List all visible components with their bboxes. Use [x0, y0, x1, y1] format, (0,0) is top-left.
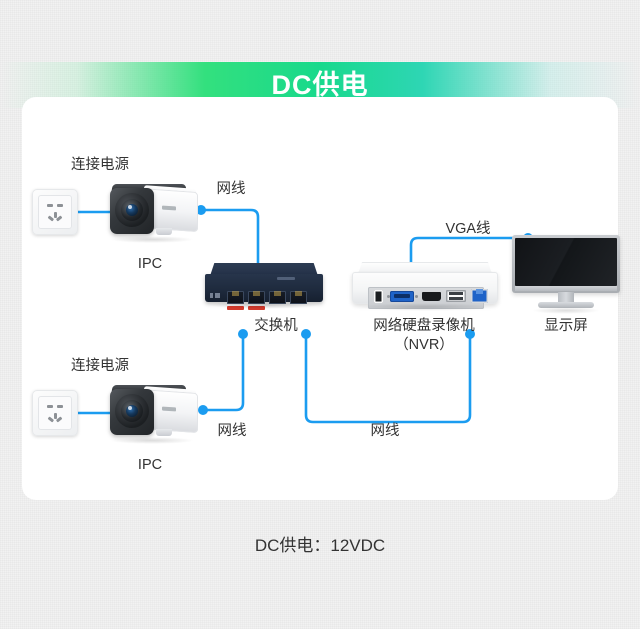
label-power-top: 连接电源 — [71, 156, 129, 175]
label-nvr-line2: （NVR） — [394, 336, 454, 355]
outlet-face — [38, 396, 72, 430]
nvr-power-port — [374, 290, 383, 303]
outlet-slot-angled-right — [56, 215, 62, 221]
label-nvr-line1: 网络硬盘录像机 — [373, 317, 475, 336]
label-lan-bottom-left: 网线 — [218, 422, 247, 441]
label-lan-top: 网线 — [217, 180, 246, 199]
outlet-face — [38, 195, 72, 229]
display-monitor — [512, 235, 620, 313]
label-lan-bottom-mid: 网线 — [371, 422, 400, 441]
camera-lens-highlight — [128, 205, 132, 209]
label-switch: 交换机 — [254, 317, 298, 336]
nvr-hdmi-port — [422, 292, 441, 301]
nvr-shadow — [358, 303, 492, 311]
ip-camera-top — [104, 182, 200, 240]
label-ipc-bottom: IPC — [138, 456, 162, 475]
switch-shadow — [209, 301, 319, 309]
monitor-screen — [515, 238, 617, 286]
switch-brand-mark — [277, 277, 295, 280]
camera-mount — [156, 228, 172, 235]
label-power-bottom: 连接电源 — [71, 357, 129, 376]
power-outlet-top — [32, 189, 78, 235]
monitor-frame — [512, 235, 620, 293]
nvr-rear-face — [352, 272, 498, 304]
nvr-vga-port — [390, 291, 414, 302]
outlet-slot-flat-right — [57, 204, 63, 207]
page-title: DC供电 — [272, 72, 369, 99]
outlet-slot-angled-right — [56, 416, 62, 422]
outlet-slot-ground — [54, 212, 57, 218]
camera-shadow — [110, 437, 194, 444]
outlet-slot-flat-right — [57, 405, 63, 408]
outlet-slot-flat-left — [47, 405, 53, 408]
camera-mount — [156, 429, 172, 436]
monitor-shadow — [532, 307, 600, 314]
label-ipc-top: IPC — [138, 255, 162, 274]
nvr-usb-ports — [446, 290, 466, 302]
label-vga: VGA线 — [445, 220, 490, 239]
outlet-slot-ground — [54, 413, 57, 419]
switch-front-face — [205, 274, 323, 302]
network-video-recorder — [352, 262, 498, 310]
footer-caption: DC供电：12VDC — [255, 535, 385, 557]
network-switch — [205, 263, 323, 307]
ip-camera-bottom — [104, 383, 200, 441]
camera-lens-highlight — [128, 406, 132, 410]
switch-led-strip — [210, 293, 220, 298]
monitor-chin — [515, 286, 617, 291]
outlet-slot-flat-left — [47, 204, 53, 207]
power-outlet-bottom — [32, 390, 78, 436]
camera-shadow — [110, 236, 194, 243]
label-monitor: 显示屏 — [544, 317, 588, 336]
nvr-ethernet-port — [471, 289, 488, 303]
nvr-vga-screw-right — [415, 295, 418, 298]
